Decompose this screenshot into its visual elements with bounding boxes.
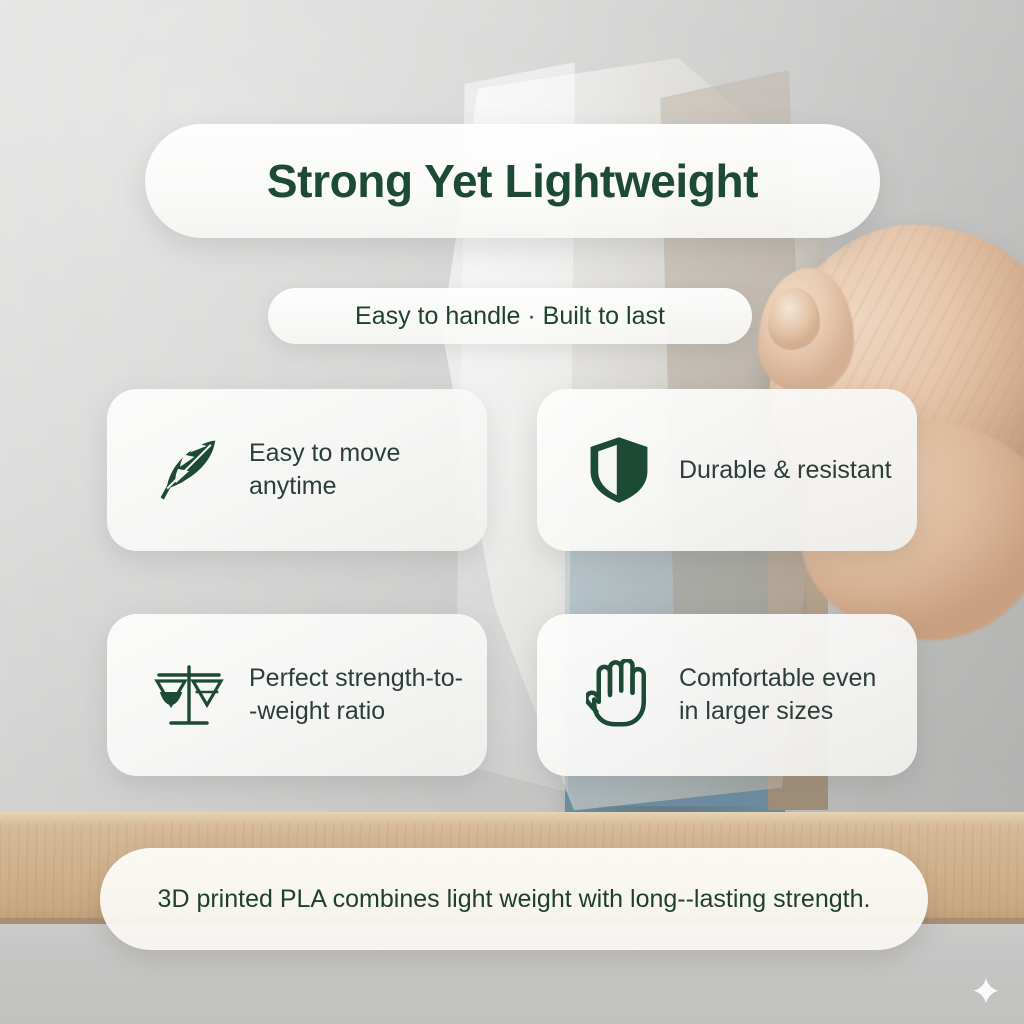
feather-icon bbox=[151, 432, 227, 508]
feature-card-strength-to-weight[interactable]: Perfect strength-to--weight ratio bbox=[107, 614, 487, 776]
open-hand-icon bbox=[581, 657, 657, 733]
feature-card-label: Comfortable even in larger sizes bbox=[679, 662, 897, 728]
footer-caption-pill: 3D printed PLA combines light weight wit… bbox=[100, 848, 928, 950]
overlay-content: Strong Yet Lightweight Easy to handle · … bbox=[0, 0, 1024, 1024]
feature-card-easy-to-move[interactable]: Easy to move anytime bbox=[107, 389, 487, 551]
scales-icon bbox=[151, 657, 227, 733]
feature-card-label: Perfect strength-to--weight ratio bbox=[249, 662, 467, 728]
footer-caption: 3D printed PLA combines light weight wit… bbox=[158, 882, 871, 917]
promo-graphic: Strong Yet Lightweight Easy to handle · … bbox=[0, 0, 1024, 1024]
feature-card-comfortable[interactable]: Comfortable even in larger sizes bbox=[537, 614, 917, 776]
feature-card-durable[interactable]: Durable & resistant bbox=[537, 389, 917, 551]
feature-card-label: Durable & resistant bbox=[679, 454, 892, 487]
sparkle-icon bbox=[972, 977, 1000, 1005]
shield-icon bbox=[581, 432, 657, 508]
feature-card-label: Easy to move anytime bbox=[249, 437, 467, 503]
